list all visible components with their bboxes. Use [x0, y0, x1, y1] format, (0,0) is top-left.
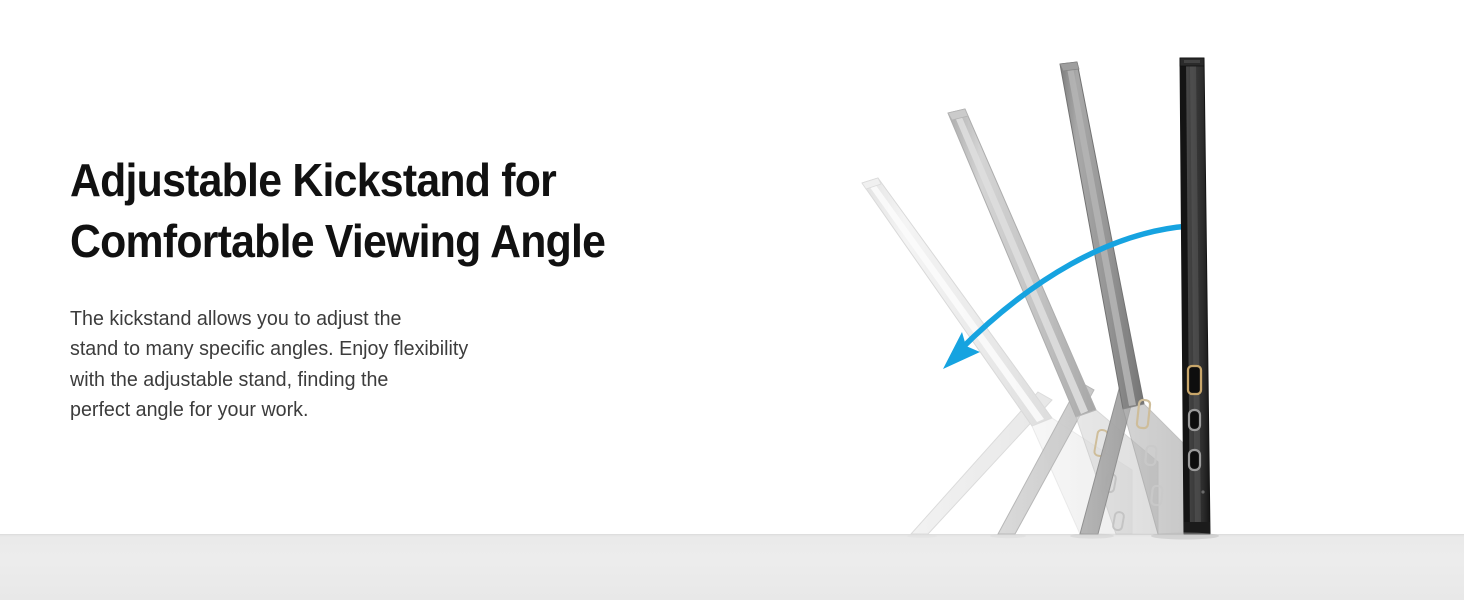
status-led	[1201, 490, 1204, 493]
hdmi-port	[1188, 366, 1201, 394]
text-column: Adjustable Kickstand for Comfortable Vie…	[70, 150, 710, 425]
page-title: Adjustable Kickstand for Comfortable Vie…	[70, 150, 665, 272]
product-illustration	[780, 0, 1340, 600]
monitor-active	[1180, 58, 1210, 534]
marketing-banner: Adjustable Kickstand for Comfortable Vie…	[0, 0, 1464, 600]
usb-c-port-1	[1189, 410, 1200, 430]
screen-slab-1	[862, 178, 1052, 426]
body-description: The kickstand allows you to adjust the s…	[70, 304, 684, 425]
contact-shadows	[907, 533, 1219, 540]
usb-c-port-2	[1189, 450, 1200, 470]
